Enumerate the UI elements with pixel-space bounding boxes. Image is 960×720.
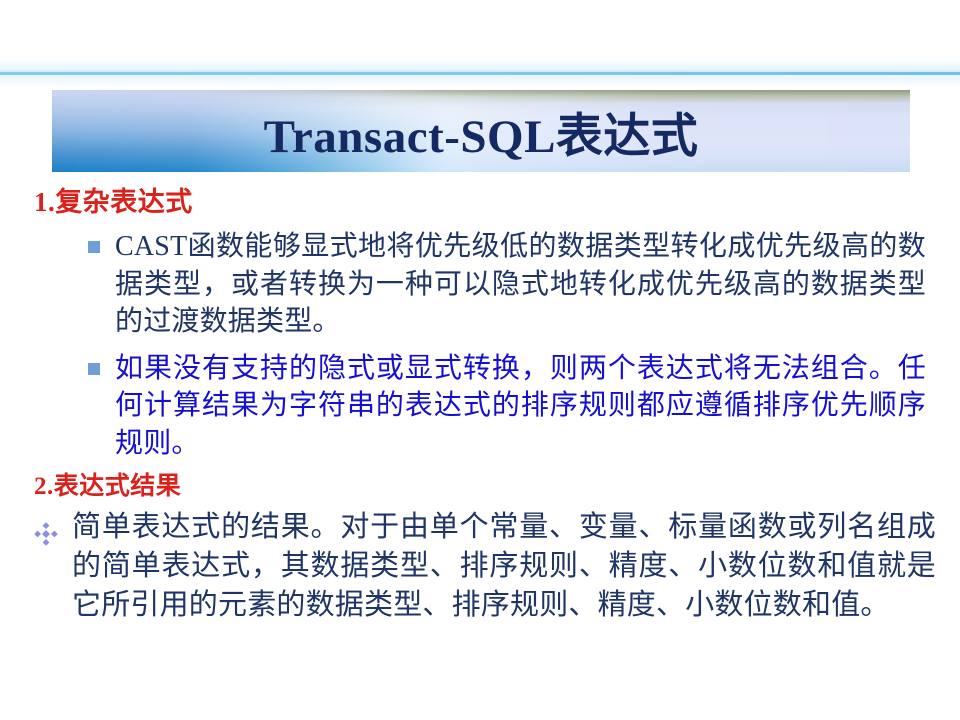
bullet-text: 如果没有支持的隐式或显式转换，则两个表达式将无法组合。任何计算结果为字符串的表达… <box>115 353 926 458</box>
section-spacer <box>0 462 960 470</box>
presentation-slide: Transact-SQL表达式 1.复杂表达式 CAST函数能够显式地将优先级低… <box>0 0 960 720</box>
bullet-text: CAST函数能够显式地将优先级低的数据类型转化成优先级高的数据类型，或者转换为一… <box>115 231 926 336</box>
divider-glow <box>0 58 960 88</box>
divider-line <box>0 72 960 75</box>
bullet-item: 如果没有支持的隐式或显式转换，则两个表达式将无法组合。任何计算结果为字符串的表达… <box>0 350 960 462</box>
square-bullet-icon <box>88 363 100 375</box>
square-bullet-icon <box>88 241 100 253</box>
bullet-text: 简单表达式的结果。对于由单个常量、变量、标量函数或列名组成的简单表达式，其数据类… <box>72 511 936 621</box>
section-heading-2: 2.表达式结果 <box>0 472 960 502</box>
section-heading-1: 1.复杂表达式 <box>0 186 960 218</box>
bullet-item: CAST函数能够显式地将优先级低的数据类型转化成优先级高的数据类型，或者转换为一… <box>0 228 960 340</box>
diamond-bullet-icon <box>34 518 58 542</box>
slide-title: Transact-SQL表达式 <box>52 90 910 172</box>
slide-title-banner: Transact-SQL表达式 <box>52 90 910 172</box>
slide-body: 1.复杂表达式 CAST函数能够显式地将优先级低的数据类型转化成优先级高的数据类… <box>0 186 960 624</box>
header-divider-rule <box>0 58 960 88</box>
bullet-item: 简单表达式的结果。对于由单个常量、变量、标量函数或列名组成的简单表达式，其数据类… <box>0 508 960 625</box>
